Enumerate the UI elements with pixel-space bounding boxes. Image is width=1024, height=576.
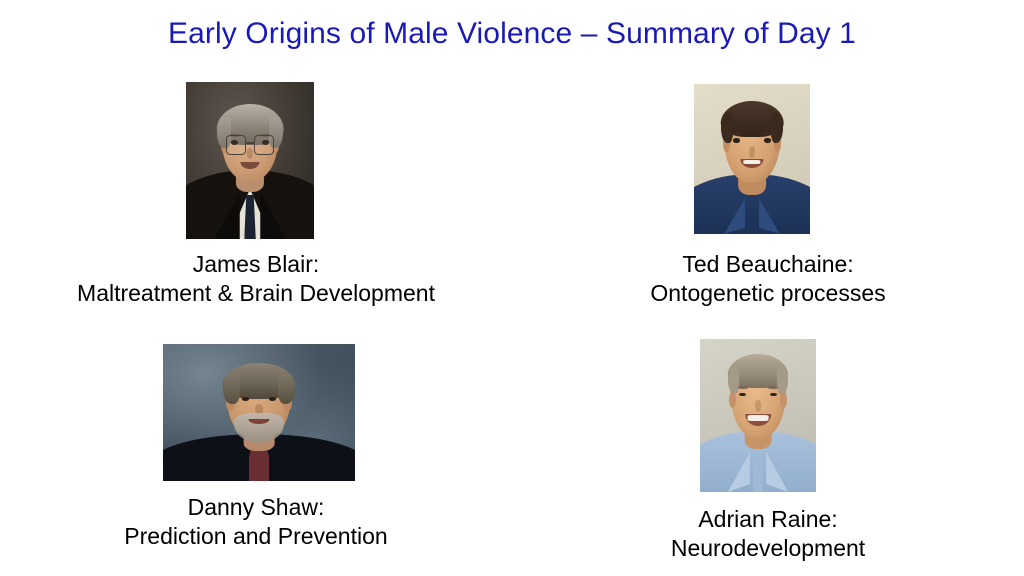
nose (749, 146, 755, 158)
eye-right (764, 138, 770, 143)
hair-curl-left (223, 374, 240, 404)
teeth (748, 415, 769, 421)
person-block-ted-beauchaine: Ted Beauchaine: Ontogenetic processes (512, 78, 1024, 308)
eyebrow-right (762, 132, 771, 135)
teeth (743, 160, 760, 165)
photo-danny-shaw (163, 344, 355, 481)
portrait-artwork-james-blair (186, 82, 314, 239)
person-topic: Maltreatment & Brain Development (0, 279, 512, 308)
photo-ted-beauchaine (694, 84, 810, 234)
eye-left (739, 393, 745, 396)
eyebrow-right (267, 392, 279, 395)
eyeglasses-lens-right (254, 135, 274, 154)
hair-left-side (721, 113, 734, 143)
person-block-adrian-raine: Adrian Raine: Neurodevelopment (512, 336, 1024, 576)
hair-left-side (728, 367, 740, 395)
person-name: Adrian Raine: (512, 505, 1024, 534)
portrait-artwork-adrian-raine (700, 339, 816, 492)
person-name: Ted Beauchaine: (512, 250, 1024, 279)
eye-right (269, 397, 277, 401)
photo-james-blair (186, 82, 314, 239)
eyebrow-left (240, 392, 252, 395)
person-name: Danny Shaw: (0, 493, 512, 522)
page-title: Early Origins of Male Violence – Summary… (0, 16, 1024, 52)
photo-adrian-raine (700, 339, 816, 492)
person-block-danny-shaw: Danny Shaw: Prediction and Prevention (0, 336, 512, 576)
eyeglasses-lens-left (226, 135, 246, 154)
nose (755, 400, 761, 412)
eye-left (733, 138, 739, 143)
eye-right (770, 393, 776, 396)
caption-james-blair: James Blair: Maltreatment & Brain Develo… (0, 250, 512, 308)
slide-canvas: Early Origins of Male Violence – Summary… (0, 0, 1024, 576)
person-topic: Neurodevelopment (512, 534, 1024, 563)
portrait-artwork-danny-shaw (163, 344, 355, 481)
eyebrow-left (732, 132, 741, 135)
eyeglasses-bridge (246, 142, 254, 144)
caption-ted-beauchaine: Ted Beauchaine: Ontogenetic processes (512, 250, 1024, 308)
caption-adrian-raine: Adrian Raine: Neurodevelopment (512, 505, 1024, 563)
person-topic: Ontogenetic processes (512, 279, 1024, 308)
eye-left (242, 397, 250, 401)
person-block-james-blair: James Blair: Maltreatment & Brain Develo… (0, 78, 512, 308)
portrait-artwork-ted-beauchaine (694, 84, 810, 234)
caption-danny-shaw: Danny Shaw: Prediction and Prevention (0, 493, 512, 551)
person-topic: Prediction and Prevention (0, 522, 512, 551)
person-name: James Blair: (0, 250, 512, 279)
shirt-placket (753, 461, 763, 492)
